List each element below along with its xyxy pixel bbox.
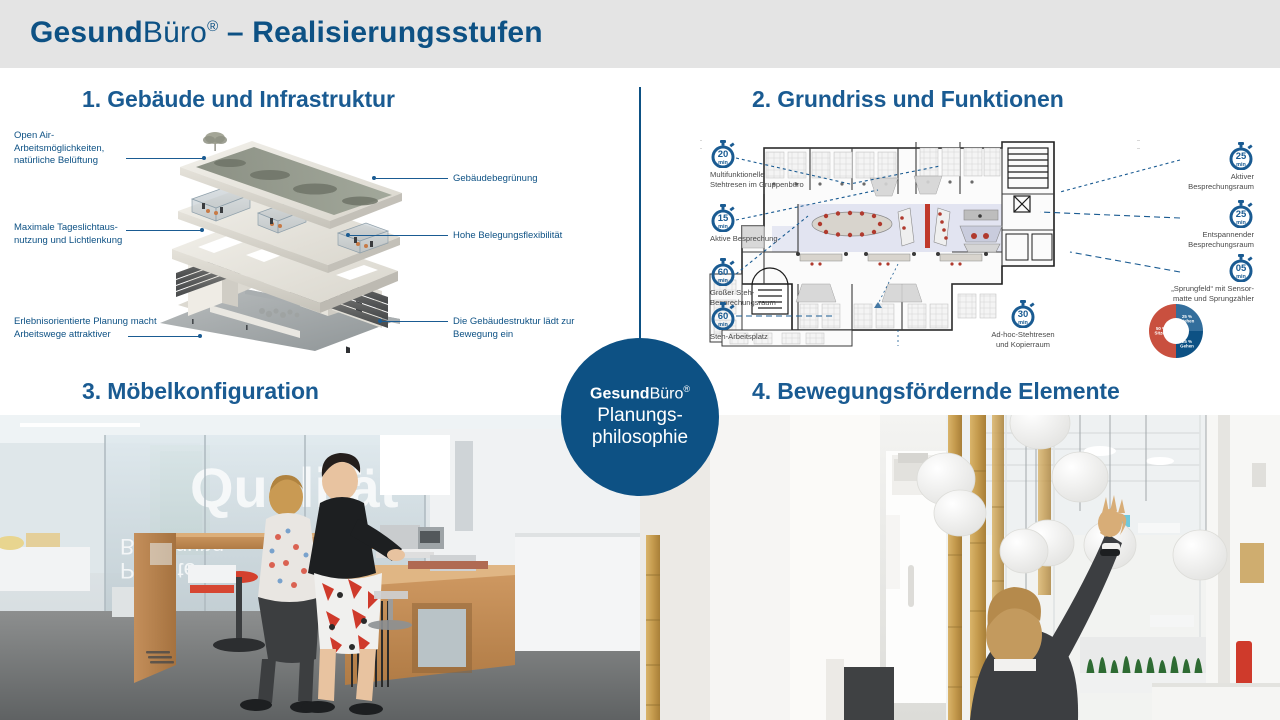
center-brand-light: Büro: [650, 386, 684, 403]
timer-20-icon: 20 min: [710, 140, 736, 168]
timer-15-icon: 15 min: [710, 204, 736, 232]
svg-text:15: 15: [718, 213, 729, 224]
annotation-occupancy-flexibility: Hohe Belegungsflexibilität: [453, 230, 633, 243]
badge-jump-field: 05 min „Sprungfeld“ mit Sensor- matte un…: [1134, 254, 1254, 304]
leader-line-open-air: [126, 158, 204, 159]
center-line-3: philosophie: [592, 427, 688, 449]
badge-relaxing-meeting-room: 25 min Entspannender Besprechungsraum: [1134, 200, 1254, 250]
leader-dot-occupancy: [346, 233, 350, 237]
center-philosophy-badge: GesundBüro® Planungs- philosophie: [561, 338, 719, 496]
leader-line-structure: [382, 321, 448, 322]
badge-active-meeting: 15 min Aktive Besprechung: [710, 204, 830, 244]
svg-text:min: min: [718, 322, 728, 328]
annotation-greening: Gebäudebegrünung: [453, 173, 623, 186]
photo-movement-elements: [640, 415, 1280, 720]
svg-text:Gehen: Gehen: [1180, 344, 1194, 349]
registered-mark: ®: [207, 18, 218, 35]
leader-line-greening: [376, 178, 448, 179]
title-brand-light: Büro: [143, 16, 207, 49]
slide-header: GesundBüro® – Realisierungsstufen: [0, 0, 1280, 68]
badge-label-multifunctional: Multifunktionelle Stehtresen im Gruppenb…: [710, 170, 830, 190]
leader-dot-greening: [372, 176, 376, 180]
roof-tree: [203, 132, 227, 151]
badge-label-standing-workplace: Steh-Arbeitsplatz: [710, 332, 830, 342]
badge-label-jump-field: „Sprungfeld“ mit Sensor- matte und Sprun…: [1134, 284, 1254, 304]
badge-multifunctional-counters: 20 min Multifunktionelle Stehtresen im G…: [710, 140, 830, 190]
timer-25-icon: 25 min: [1228, 142, 1254, 170]
leader-dot-daylight: [200, 228, 204, 232]
leader-line-occupancy: [350, 235, 448, 236]
timer-60-b-icon: 60 min: [710, 302, 736, 330]
title-brand-bold: Gesund: [30, 16, 143, 49]
badge-label-active-meeting-room: Aktiver Besprechungsraum: [1134, 172, 1254, 192]
page-title: GesundBüro® – Realisierungsstufen: [30, 16, 543, 50]
svg-text:min: min: [718, 224, 728, 230]
svg-text:min: min: [1236, 274, 1246, 280]
leader-line-daylight: [126, 230, 202, 231]
leader-line-experience: [128, 336, 200, 337]
svg-text:05: 05: [1236, 263, 1247, 274]
photo4-illustration: [640, 415, 1280, 720]
timer-05-icon: 05 min: [1228, 254, 1254, 282]
timer-30-icon: 30 min: [1010, 300, 1036, 328]
svg-text:60: 60: [718, 311, 729, 322]
title-rest: – Realisierungsstufen: [218, 16, 543, 49]
center-brand: GesundBüro®: [590, 384, 690, 404]
panel-building-infrastructure: Open Air- Arbeitsmöglichkeiten, natürlic…: [0, 68, 640, 368]
svg-text:25: 25: [1236, 151, 1247, 162]
badge-label-relaxing-meeting-room: Entspannender Besprechungsraum: [1134, 230, 1254, 250]
badge-active-meeting-room: 25 min Aktiver Besprechungsraum: [1134, 142, 1254, 192]
svg-text:30: 30: [1018, 309, 1029, 320]
annotation-structure-movement: Die Gebäudestruktur lädt zur Bewegung ei…: [453, 316, 621, 341]
svg-text:25: 25: [1236, 209, 1247, 220]
center-brand-bold: Gesund: [590, 386, 650, 403]
timer-60-icon: 60 min: [710, 258, 736, 286]
svg-text:Stehen: Stehen: [1180, 319, 1195, 324]
slide-root: GesundBüro® – Realisierungsstufen 1. Geb…: [0, 0, 1280, 720]
svg-text:min: min: [1018, 320, 1028, 326]
activity-donut-chart: 25 % Stehen 25 % Gehen 50 % Sitzen: [1148, 303, 1204, 359]
svg-text:20: 20: [718, 149, 729, 160]
sensor-strip: [925, 204, 930, 248]
svg-text:min: min: [1236, 162, 1246, 168]
badge-large-standing-meeting: 60 min Großer Steh- Besprechungsraum: [710, 258, 830, 308]
photo-furniture-configuration: Qualität Bewegung Patente: [0, 415, 640, 720]
donut-svg: 25 % Stehen 25 % Gehen 50 % Sitzen: [1148, 303, 1204, 359]
center-line-2: Planungs-: [597, 405, 683, 427]
svg-text:60: 60: [718, 267, 729, 278]
badge-adhoc-counter: 30 min Ad-hoc-Stehtresen und Kopierraum: [958, 300, 1088, 350]
annotation-open-air: Open Air- Arbeitsmöglichkeiten, natürlic…: [14, 130, 134, 168]
svg-text:min: min: [1236, 220, 1246, 226]
badge-standing-workplace: 60 min Steh-Arbeitsplatz: [710, 302, 830, 342]
leader-dot-structure: [378, 319, 382, 323]
annotation-experience-planning: Erlebnisorientierte Planung macht Arbeit…: [14, 316, 160, 341]
badge-label-active-meeting: Aktive Besprechung: [710, 234, 830, 244]
center-registered: ®: [683, 384, 690, 394]
svg-text:min: min: [718, 160, 728, 166]
panel-3-title: 3. Möbelkonfiguration: [82, 378, 319, 405]
timer-25-b-icon: 25 min: [1228, 200, 1254, 228]
svg-text:min: min: [718, 278, 728, 284]
leader-dot-experience: [198, 334, 202, 338]
annotation-daylight: Maximale Tageslichtaus-nutzung und Licht…: [14, 222, 142, 247]
svg-text:Sitzen: Sitzen: [1155, 331, 1168, 336]
panel-4-title: 4. Bewegungsfördernde Elemente: [752, 378, 1120, 405]
leader-dot-open-air: [202, 156, 206, 160]
badge-label-adhoc-counter: Ad-hoc-Stehtresen und Kopierraum: [958, 330, 1088, 350]
photo3-illustration: Qualität Bewegung Patente: [0, 415, 640, 720]
